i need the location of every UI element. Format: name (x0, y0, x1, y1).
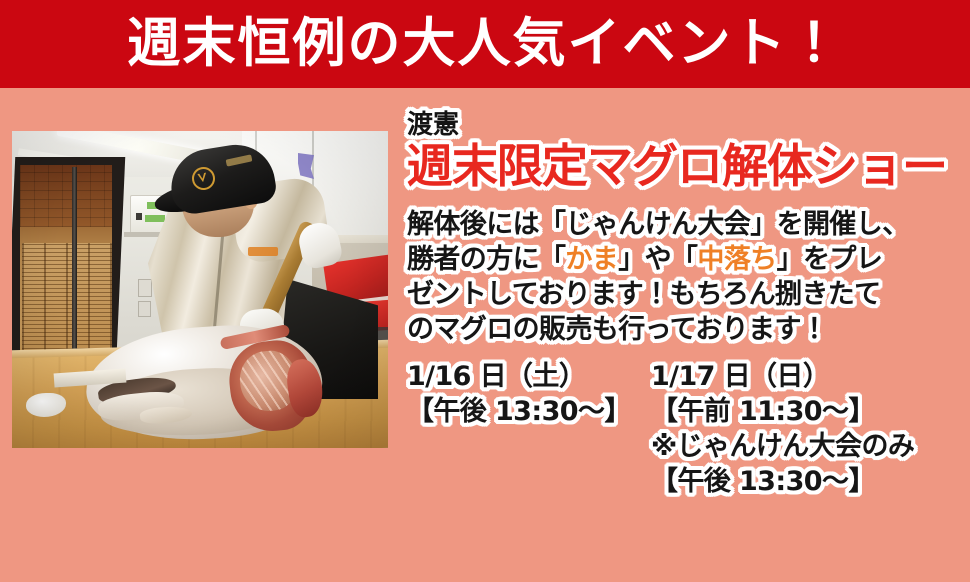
description-line-2: 勝者の方に「かま」や「中落ち」をプレ (407, 242, 963, 277)
shop-name: 渡憲 (407, 112, 963, 139)
schedule-column-saturday: 1/16 日（土） 【午後 13:30〜】 (407, 359, 651, 429)
poster-root: 週末恒例の大人気イベント！ (0, 0, 970, 582)
highlight-nakaochi: 中落ち (697, 244, 776, 275)
event-photo (12, 131, 388, 448)
schedule-sun-time-2: 【午後 13:30〜】 (651, 464, 951, 499)
content-column: 渡憲 週末限定マグロ解体ショー 解体後には「じゃんけん大会」を開催し、 勝者の方… (407, 112, 963, 500)
schedule-sun-time-1: 【午前 11:30〜】 (651, 394, 951, 429)
event-description: 解体後には「じゃんけん大会」を開催し、 勝者の方に「かま」や「中落ち」をプレ ゼ… (407, 207, 963, 347)
schedule: 1/16 日（土） 【午後 13:30〜】 1/17 日（日） 【午前 11:3… (407, 359, 963, 499)
schedule-sun-date: 1/17 日（日） (651, 359, 951, 394)
description-line-2-b: 」や「 (618, 244, 697, 275)
schedule-column-sunday: 1/17 日（日） 【午前 11:30〜】 ※じゃんけん大会のみ 【午後 13:… (651, 359, 951, 499)
schedule-sun-note: ※じゃんけん大会のみ (651, 429, 951, 464)
schedule-sat-time-1: 【午後 13:30〜】 (407, 394, 651, 429)
photo-illustration (12, 131, 388, 448)
description-line-2-a: 勝者の方に「 (407, 244, 565, 275)
highlight-kama: かま (565, 244, 618, 275)
description-line-2-c: 」をプレ (777, 244, 883, 275)
page-title: 週末限定マグロ解体ショー (407, 141, 963, 193)
description-line-1: 解体後には「じゃんけん大会」を開催し、 (407, 207, 963, 242)
description-line-1-text: 解体後には「じゃんけん大会」を開催し、 (407, 209, 909, 240)
banner-title: 週末恒例の大人気イベント！ (128, 17, 843, 70)
description-line-4: のマグロの販売も行っております！ (407, 312, 963, 347)
schedule-sat-date: 1/16 日（土） (407, 359, 651, 394)
description-line-3: ゼントしております！もちろん捌きたて (407, 277, 963, 312)
photo-vignette (12, 131, 388, 448)
header-banner: 週末恒例の大人気イベント！ (0, 0, 970, 88)
